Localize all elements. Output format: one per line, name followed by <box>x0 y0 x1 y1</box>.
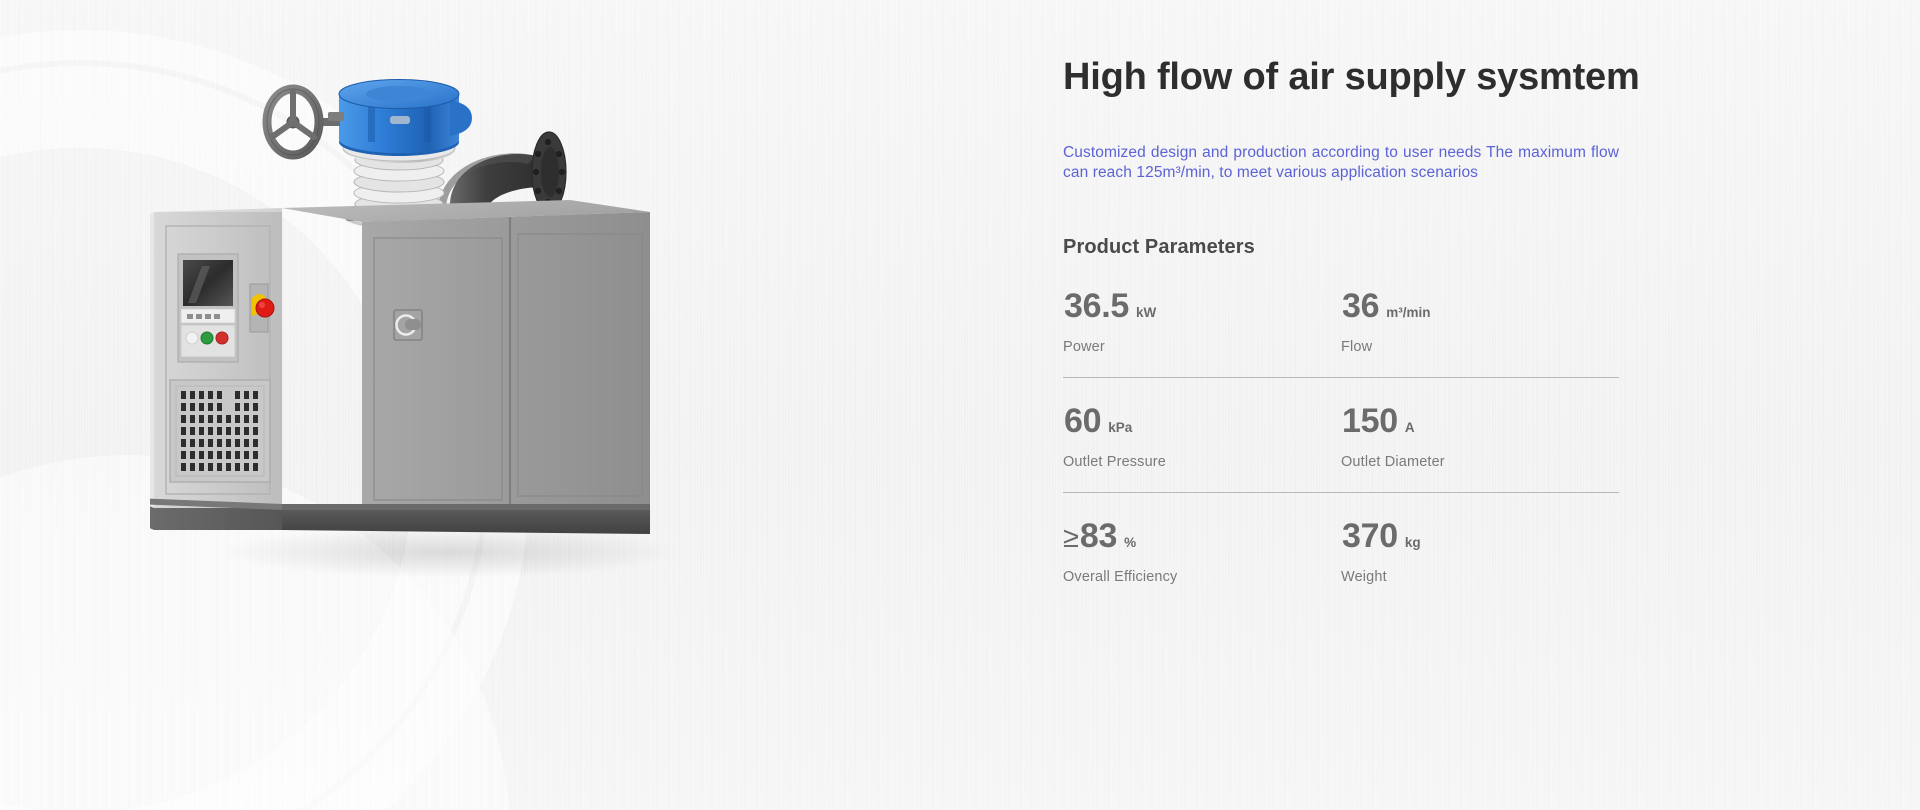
spec-row: 60 kPa Outlet Pressure 150 A Outlet Diam… <box>1063 404 1619 493</box>
spec-table: 36.5 kW Power 36 m³/min Flow 60 <box>1063 289 1619 585</box>
indicator-red <box>216 332 228 344</box>
spec-cell-outlet-diameter: 150 A Outlet Diameter <box>1341 404 1619 470</box>
info-panel: High flow of air supply sysmtem Customiz… <box>1063 55 1703 585</box>
valve-handwheel <box>267 89 344 155</box>
spec-value: 150 <box>1342 404 1398 438</box>
spec-value-line: 60 kPa <box>1063 404 1341 438</box>
ground-shadow <box>220 526 680 578</box>
spec-label: Power <box>1063 339 1341 355</box>
spec-unit: % <box>1124 535 1136 550</box>
machine-cabinet <box>282 200 650 522</box>
spec-row: ≥ 83 % Overall Efficiency 370 kg Weight <box>1063 519 1619 585</box>
spec-label: Outlet Diameter <box>1341 454 1619 470</box>
spec-unit: m³/min <box>1386 305 1430 320</box>
spec-label: Outlet Pressure <box>1063 454 1341 470</box>
spec-unit: kPa <box>1108 420 1132 435</box>
spec-value: 370 <box>1342 519 1398 553</box>
spec-value: 60 <box>1064 404 1101 438</box>
spec-label: Overall Efficiency <box>1063 569 1341 585</box>
butterfly-valve-blue <box>339 80 472 157</box>
spec-prefix-greater-equal: ≥ <box>1063 524 1079 553</box>
spec-value-line: 370 kg <box>1341 519 1619 553</box>
control-panel <box>178 254 238 362</box>
spec-value-line: 36 m³/min <box>1341 289 1619 323</box>
spec-value: 36.5 <box>1064 289 1129 323</box>
indicator-white <box>186 332 198 344</box>
spec-cell-power: 36.5 kW Power <box>1063 289 1341 355</box>
spec-value-line: ≥ 83 % <box>1063 519 1341 553</box>
cabinet-door-latch <box>394 310 422 340</box>
spec-cell-outlet-pressure: 60 kPa Outlet Pressure <box>1063 404 1341 470</box>
spec-value-line: 36.5 kW <box>1063 289 1341 323</box>
spec-value-line: 150 A <box>1341 404 1619 438</box>
product-image <box>150 60 770 640</box>
product-subtitle: Customized design and production accordi… <box>1063 143 1619 184</box>
spec-unit: A <box>1405 420 1415 435</box>
spec-cell-weight: 370 kg Weight <box>1341 519 1619 585</box>
spec-unit: kW <box>1136 305 1156 320</box>
ventilation-grille <box>170 380 270 482</box>
spec-unit: kg <box>1405 535 1421 550</box>
page-title: High flow of air supply sysmtem <box>1063 55 1703 101</box>
spec-label: Weight <box>1341 569 1619 585</box>
spec-row: 36.5 kW Power 36 m³/min Flow <box>1063 289 1619 378</box>
spec-cell-flow: 36 m³/min Flow <box>1341 289 1619 355</box>
spec-value: 83 <box>1080 519 1117 553</box>
indicator-green <box>201 332 213 344</box>
spec-value: 36 <box>1342 289 1379 323</box>
product-parameters-heading: Product Parameters <box>1063 236 1703 259</box>
spec-label: Flow <box>1341 339 1619 355</box>
spec-cell-overall-efficiency: ≥ 83 % Overall Efficiency <box>1063 519 1341 585</box>
